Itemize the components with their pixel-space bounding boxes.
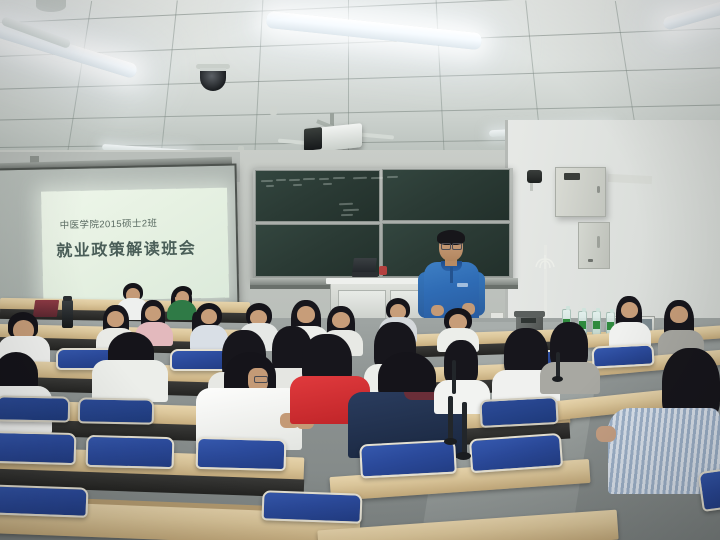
student-hand (596, 426, 616, 442)
chalk-mark (261, 180, 273, 182)
wall-speaker-icon (527, 170, 542, 183)
chalk-mark (289, 179, 300, 181)
thermos-cap (63, 296, 72, 301)
classroom-chair[interactable] (591, 343, 654, 368)
blackboard-panel (382, 169, 510, 221)
classroom-chair[interactable] (479, 396, 558, 428)
speaker-bracket (530, 183, 533, 191)
chalk-mark (303, 178, 315, 180)
chalk-mark (276, 179, 286, 181)
eyeglasses-icon (452, 243, 462, 250)
red-object-on-podium (379, 266, 387, 275)
chair-leg (448, 396, 453, 440)
chalk-mark (266, 185, 274, 187)
water-bottle (592, 311, 601, 336)
chair-leg (556, 352, 560, 378)
eyeglasses-icon (254, 376, 268, 383)
presenter-hand (431, 305, 444, 316)
ceiling-vent (36, 0, 66, 12)
chair-foot (456, 452, 471, 460)
thermos-flask (62, 300, 73, 328)
trash-bin-lid (514, 311, 545, 317)
trash-bin-label (521, 318, 536, 323)
chalk-mark (293, 184, 302, 186)
chair-foot (444, 438, 457, 445)
chair-leg (462, 402, 467, 454)
classroom-chair[interactable] (78, 397, 154, 424)
fire-sprinkler-icon (270, 106, 277, 115)
eyeglasses-icon (441, 243, 451, 250)
cabinet-handle[interactable] (597, 236, 600, 248)
chalk-mark (371, 177, 383, 179)
chalk-mark (341, 214, 353, 216)
projection-screen: 中医学院2015硕士2班 就业政策解读班会 (0, 163, 240, 314)
chalk-mark (323, 183, 332, 185)
chair-leg (452, 360, 456, 394)
laptop-keyboard[interactable] (352, 272, 378, 277)
slide-title: 就业政策解读班会 (56, 234, 196, 261)
classroom-chair[interactable] (359, 440, 457, 479)
cabinet-vent (564, 173, 580, 180)
chalk-mark (333, 177, 345, 179)
classroom-chair[interactable] (86, 435, 175, 469)
chair-foot (552, 376, 563, 382)
cabinet-latch[interactable] (597, 186, 600, 193)
classroom-chair[interactable] (196, 437, 287, 471)
presenter-shirt-logo (457, 283, 468, 287)
classroom-chair[interactable] (262, 490, 363, 523)
classroom-photo: 中医学院2015硕士2班 就业政策解读班会 (0, 0, 720, 540)
electrical-cabinet-lower[interactable] (578, 222, 610, 269)
cabinet-indicator (588, 259, 593, 262)
classroom-chair[interactable] (0, 395, 70, 422)
presenter-placket (450, 267, 453, 283)
classroom-chair[interactable] (469, 433, 563, 473)
classroom-chair[interactable] (0, 431, 76, 465)
laptop-front-desk[interactable] (33, 300, 59, 317)
chalk-mark (387, 176, 398, 178)
chalk-mark (319, 178, 329, 180)
classroom-chair[interactable] (0, 484, 88, 518)
blackboard (253, 168, 513, 280)
slide-subtitle: 中医学院2015硕士2班 (60, 215, 158, 231)
coat-rack-hooks (533, 255, 558, 270)
projector-lens-icon (304, 127, 322, 151)
laptop-on-podium[interactable] (352, 258, 377, 273)
